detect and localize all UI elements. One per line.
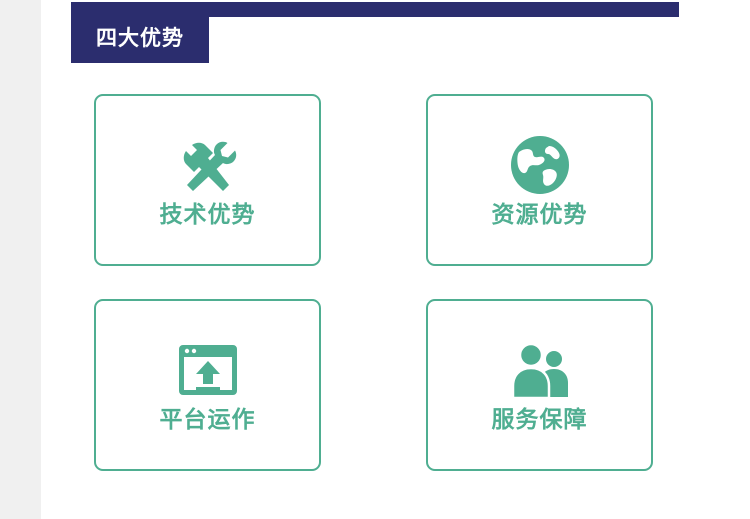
browser-upload-icon bbox=[177, 339, 239, 401]
advantage-card-label: 资源优势 bbox=[492, 204, 588, 227]
two-people-icon bbox=[508, 339, 572, 401]
advantage-card-label: 技术优势 bbox=[160, 204, 256, 227]
advantage-card-resource[interactable]: 资源优势 bbox=[426, 94, 653, 266]
page-root: 四大优势 技术优势 bbox=[0, 0, 750, 519]
advantage-card-label: 服务保障 bbox=[492, 409, 588, 432]
advantage-card-technology[interactable]: 技术优势 bbox=[94, 94, 321, 266]
advantage-card-grid: 技术优势 资源优势 bbox=[94, 94, 656, 472]
page-title: 四大优势 bbox=[96, 28, 184, 49]
globe-icon bbox=[509, 134, 571, 196]
section-title-block: 四大优势 bbox=[71, 13, 209, 63]
advantage-card-service[interactable]: 服务保障 bbox=[426, 299, 653, 471]
advantage-card-platform[interactable]: 平台运作 bbox=[94, 299, 321, 471]
hammer-wrench-icon bbox=[173, 134, 243, 196]
advantage-card-label: 平台运作 bbox=[160, 409, 256, 432]
